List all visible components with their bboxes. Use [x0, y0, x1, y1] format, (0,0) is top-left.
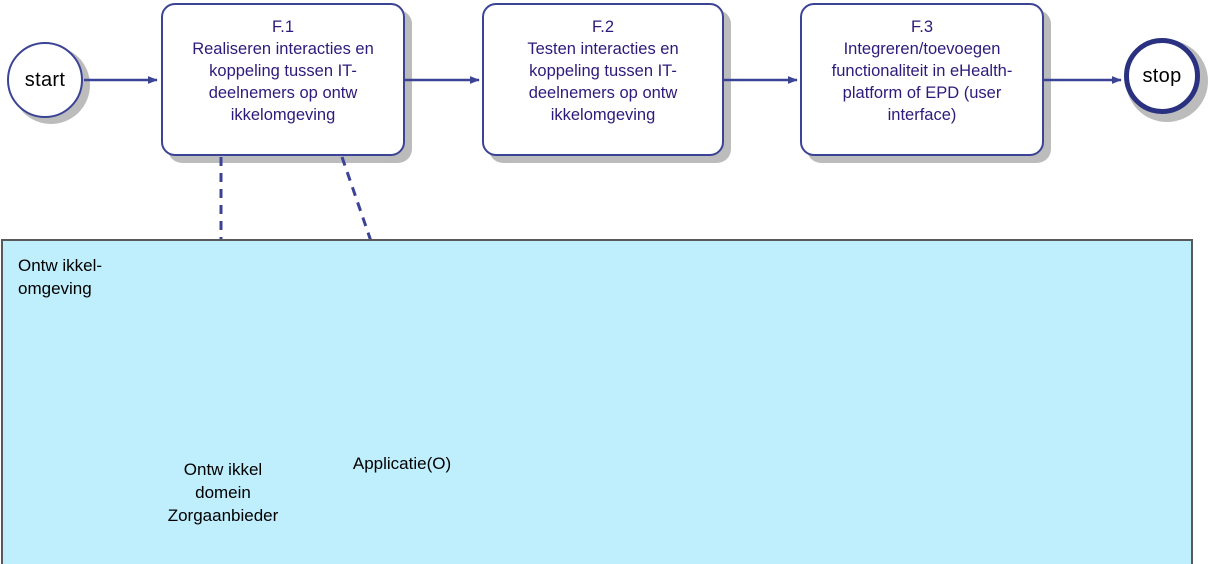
diagram-canvas: Ontw ikkel- omgeving start stop F.1 Real… — [0, 0, 1208, 564]
application-label: Applicatie(O) — [327, 452, 477, 475]
process-box-f1[interactable]: F.1 Realiseren interacties en koppeling … — [161, 3, 405, 156]
process-box-f2[interactable]: F.2 Testen interacties en koppeling tuss… — [482, 3, 724, 156]
process-box-f3[interactable]: F.3 Integreren/toevoegen functionaliteit… — [800, 3, 1044, 156]
process-f3-text: Integreren/toevoegen functionaliteit in … — [802, 38, 1042, 126]
process-f3-id: F.3 — [802, 16, 1042, 38]
container-label: Ontw ikkel- omgeving — [18, 254, 102, 300]
database-label: Ontw ikkel domein Zorgaanbieder — [125, 458, 321, 527]
process-f1-text: Realiseren interacties en koppeling tuss… — [163, 38, 403, 126]
process-f1-id: F.1 — [163, 16, 403, 38]
process-f2-id: F.2 — [484, 16, 722, 38]
start-node[interactable]: start — [7, 42, 83, 118]
stop-node[interactable]: stop — [1124, 38, 1200, 114]
process-f2-text: Testen interacties en koppeling tussen I… — [484, 38, 722, 126]
stop-node-label: stop — [1142, 66, 1181, 86]
start-node-label: start — [25, 70, 65, 90]
